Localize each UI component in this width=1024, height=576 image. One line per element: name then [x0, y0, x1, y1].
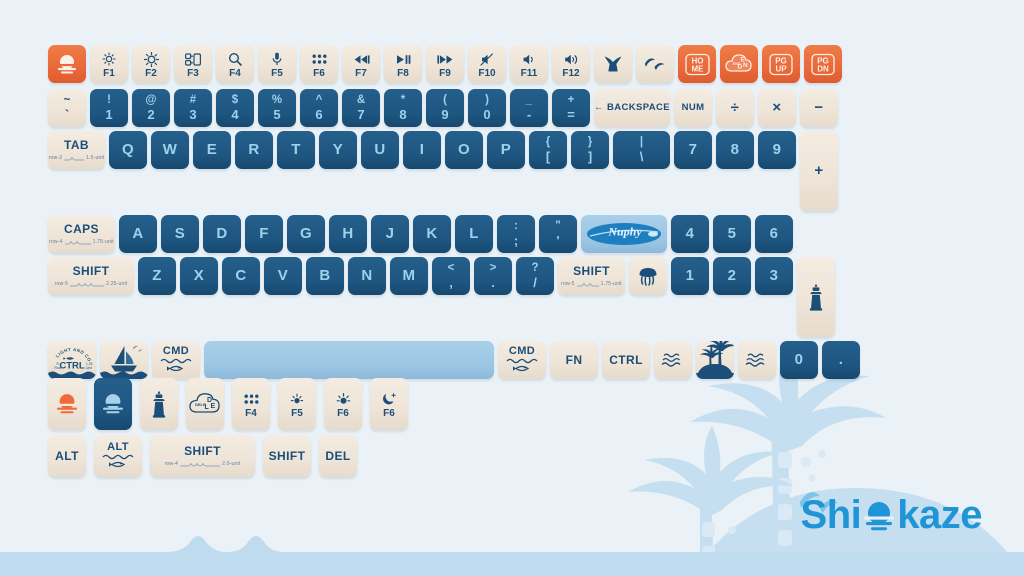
key-f9-label: F9: [439, 68, 451, 79]
base-legend: -: [527, 107, 531, 122]
key-f1-label: F1: [103, 68, 115, 79]
key-numpad-divide[interactable]: ÷: [716, 89, 754, 127]
spec-row: row-4: [49, 239, 63, 245]
key-numpad-8[interactable]: 8: [716, 131, 754, 169]
sunset-icon: [54, 392, 80, 416]
profile-curve-icon: [65, 240, 91, 245]
key-f6-label: F6: [313, 68, 325, 79]
key-w[interactable]: W: [151, 131, 189, 169]
key-period[interactable]: >.: [474, 257, 512, 295]
shifted-legend: ": [555, 220, 560, 232]
lighthouse-icon: [806, 282, 826, 312]
shifted-legend: <: [448, 262, 455, 274]
extras-row-1: DELE D L E F4 F5 F6: [48, 378, 416, 430]
key-bracket-left[interactable]: {[: [529, 131, 567, 169]
key-cmd-left[interactable]: CMD: [152, 341, 200, 379]
key-end[interactable]: END E D N: [720, 45, 758, 83]
key-u-label: U: [374, 142, 385, 158]
key-grave-base: `: [65, 107, 69, 122]
key-esc[interactable]: [48, 45, 86, 83]
key-cmd-left-label: CMD: [163, 346, 189, 358]
brand-logo: Shi kaze: [801, 493, 982, 538]
previous-track-icon: [353, 53, 370, 66]
key-numpad-5-label: 5: [728, 226, 737, 242]
shifted-legend: +: [568, 94, 575, 106]
key-f-label: F: [259, 226, 269, 242]
key-k-label: K: [426, 226, 437, 242]
key-numpad-6[interactable]: 6: [755, 215, 793, 253]
brightness-up-icon: [144, 53, 159, 66]
key-f6[interactable]: F6: [300, 45, 338, 83]
extra-key-f4-label: F4: [245, 408, 257, 419]
brand-text-after: kaze: [897, 493, 982, 538]
extra-key-shift-label: SHIFT: [269, 450, 306, 463]
shifted-legend: !: [107, 94, 111, 106]
svg-text:ME: ME: [691, 64, 704, 73]
task-view-icon: [185, 53, 201, 66]
shifted-legend: :: [514, 220, 518, 232]
key-f12[interactable]: F12: [552, 45, 590, 83]
key-f9[interactable]: F9: [426, 45, 464, 83]
base-legend: \: [640, 149, 644, 164]
svg-text:CTRL: CTRL: [59, 361, 85, 372]
seagulls-icon: [643, 55, 667, 73]
microphone-icon: [272, 53, 282, 66]
key-i[interactable]: I: [403, 131, 441, 169]
key-v-label: V: [278, 268, 288, 284]
svg-text:N: N: [743, 62, 748, 69]
brand-text-before: Shi: [801, 493, 862, 538]
moon-icon: [382, 393, 396, 406]
key-novelty-sailboat[interactable]: [100, 341, 148, 379]
whale-tail-icon: [602, 53, 624, 75]
key-g-label: G: [300, 226, 312, 242]
key-backspace[interactable]: ← BACKSPACE: [594, 89, 670, 127]
key-fn-label: FN: [566, 354, 583, 367]
extra-key-esc-cream[interactable]: [48, 378, 86, 430]
key-f1[interactable]: F1: [90, 45, 128, 83]
key-q[interactable]: Q: [109, 131, 147, 169]
key-cmd-right[interactable]: CMD: [498, 341, 546, 379]
key-numpad-subtract[interactable]: −: [800, 89, 838, 127]
key-novelty-seagull[interactable]: [636, 45, 674, 83]
key-numpad-2-label: 2: [728, 268, 737, 284]
key-shift-right-label: SHIFT: [573, 265, 610, 278]
spec-unit: 2.25-unit: [106, 281, 127, 287]
extra-key-lighthouse[interactable]: [140, 378, 178, 430]
key-l-label: L: [469, 226, 479, 242]
sunset-icon: [100, 392, 126, 416]
key-f[interactable]: F: [245, 215, 283, 253]
app-grid-icon: [244, 393, 259, 406]
key-f7[interactable]: F7: [342, 45, 380, 83]
key-f10[interactable]: F10: [468, 45, 506, 83]
shifted-legend: (: [443, 94, 447, 106]
base-legend: /: [533, 275, 537, 290]
key-novelty-wave-left[interactable]: [654, 341, 692, 379]
key-numpad-enter[interactable]: [797, 257, 835, 337]
key-digit-3[interactable]: #3: [174, 89, 212, 127]
key-numpad-1[interactable]: 1: [671, 257, 709, 295]
key-numpad-5[interactable]: 5: [713, 215, 751, 253]
base-legend: .: [491, 275, 495, 290]
key-digit-1[interactable]: !1: [90, 89, 128, 127]
key-numpad-1-label: 1: [686, 268, 695, 284]
key-s-label: S: [175, 226, 185, 242]
extra-key-alt-fish-label: ALT: [107, 442, 129, 454]
key-c-label: C: [235, 268, 246, 284]
key-shift-right[interactable]: SHIFT row-5 1.75-unit: [558, 257, 625, 295]
key-novelty-palm-island[interactable]: [696, 341, 734, 379]
extra-key-shift[interactable]: SHIFT: [263, 435, 311, 477]
key-slash[interactable]: ?/: [516, 257, 554, 295]
shifted-legend: {: [546, 136, 550, 148]
key-numpad-decimal-label: .: [839, 352, 844, 368]
key-fn[interactable]: FN: [550, 341, 598, 379]
key-numpad-4-label: 4: [686, 226, 695, 242]
key-digit-9[interactable]: (9: [426, 89, 464, 127]
key-numpad-multiply[interactable]: ×: [758, 89, 796, 127]
key-a-label: A: [132, 226, 143, 242]
shifted-legend: |: [640, 136, 643, 148]
volume-down-icon: [522, 53, 536, 66]
spec-unit: 1.5-unit: [86, 155, 104, 161]
key-b-label: B: [319, 268, 330, 284]
key-f5-label: F5: [271, 68, 283, 79]
key-s[interactable]: S: [161, 215, 199, 253]
key-r[interactable]: R: [235, 131, 273, 169]
shifted-legend: @: [145, 94, 156, 106]
key-numpad-8-label: 8: [731, 142, 740, 158]
key-numpad-decimal[interactable]: .: [822, 341, 860, 379]
key-x-label: X: [194, 268, 204, 284]
volume-up-icon: [564, 53, 579, 66]
app-grid-icon: [312, 53, 327, 66]
z-row: SHIFT row-5 2.25-unit Z X C V B N M <, >…: [48, 257, 988, 337]
key-shift-left-label: SHIFT: [73, 265, 110, 278]
extra-key-alt-fish[interactable]: ALT: [94, 435, 142, 477]
key-digit-0[interactable]: )0: [468, 89, 506, 127]
key-h-label: H: [342, 226, 353, 242]
key-page-up[interactable]: PG UP: [762, 45, 800, 83]
key-page-down[interactable]: PG DN: [804, 45, 842, 83]
key-f4[interactable]: F4: [216, 45, 254, 83]
key-quote[interactable]: "': [539, 215, 577, 253]
key-f3-label: F3: [187, 68, 199, 79]
base-legend: ;: [514, 233, 518, 248]
key-numpad-3[interactable]: 3: [755, 257, 793, 295]
cloud-icon: DELE D L E: [188, 391, 222, 417]
q-row: TAB row-3 1.5-unit Q W E R T Y U I O P {…: [48, 131, 988, 211]
function-row: F1 F2 F3 F4 F5: [48, 45, 988, 83]
extras-row-2: ALT ALT SHIFT row-4 2.0-unit SHIFT DEL: [48, 435, 416, 477]
key-i-label: I: [420, 142, 425, 158]
sailboat-icon: [100, 341, 148, 379]
base-legend: 2: [147, 107, 154, 122]
extra-key-f6-moon-label: F6: [383, 408, 395, 419]
key-v[interactable]: V: [264, 257, 302, 295]
key-f2[interactable]: F2: [132, 45, 170, 83]
key-tab-label: TAB: [64, 139, 89, 152]
key-w-label: W: [163, 142, 178, 158]
key-c[interactable]: C: [222, 257, 260, 295]
key-capslock[interactable]: CAPS row-4 1.75-unit: [48, 215, 115, 253]
key-e[interactable]: E: [193, 131, 231, 169]
key-numpad-add[interactable]: +: [800, 131, 838, 211]
key-x[interactable]: X: [180, 257, 218, 295]
extra-key-delete[interactable]: DELE D L E: [186, 378, 224, 430]
base-legend: =: [567, 107, 575, 122]
key-novelty-jellyfish[interactable]: [629, 257, 667, 295]
shifted-legend: &: [357, 94, 365, 106]
svg-text:Unit: Unit: [86, 366, 92, 370]
key-minus[interactable]: _-: [510, 89, 548, 127]
key-numpad-9-label: 9: [773, 142, 782, 158]
extra-key-f5-label: F5: [291, 408, 303, 419]
key-f12-label: F12: [562, 68, 579, 79]
key-f10-label: F10: [478, 68, 495, 79]
key-shift-left[interactable]: SHIFT row-5 2.25-unit: [48, 257, 134, 295]
key-home[interactable]: HO ME: [678, 45, 716, 83]
profile-curve-icon: [180, 462, 220, 467]
spec-unit: 1.75-unit: [93, 239, 114, 245]
extra-key-f4[interactable]: F4: [232, 378, 270, 430]
svg-text:UP: UP: [775, 64, 787, 73]
base-legend: 5: [273, 107, 280, 122]
key-z[interactable]: Z: [138, 257, 176, 295]
key-y[interactable]: Y: [319, 131, 357, 169]
key-digit-7[interactable]: &7: [342, 89, 380, 127]
waves-icon: [661, 352, 685, 368]
extra-key-f6-moon[interactable]: F6: [370, 378, 408, 430]
a-row: CAPS row-4 1.75-unit A S D F G H J K L :…: [48, 215, 988, 253]
spec-row: row-5: [561, 281, 575, 287]
key-l[interactable]: L: [455, 215, 493, 253]
key-z-label: Z: [152, 268, 162, 284]
key-f3[interactable]: F3: [174, 45, 212, 83]
spec-row: row-3: [49, 155, 63, 161]
cloud-icon: END E D N: [724, 52, 754, 76]
key-a[interactable]: A: [119, 215, 157, 253]
key-p-label: P: [501, 142, 511, 158]
key-ctrl-right[interactable]: CTRL: [602, 341, 650, 379]
page-up-badge-icon: PG UP: [768, 52, 794, 77]
key-f5[interactable]: F5: [258, 45, 296, 83]
shifted-legend: ^: [316, 94, 323, 106]
waves-fish-icon: [159, 357, 193, 374]
key-r-label: R: [248, 142, 259, 158]
next-track-icon: [437, 53, 454, 66]
svg-text:Row: Row: [55, 366, 62, 370]
key-f11[interactable]: F11: [510, 45, 548, 83]
key-t[interactable]: T: [277, 131, 315, 169]
extra-key-f5[interactable]: F5: [278, 378, 316, 430]
key-f11-label: F11: [521, 68, 538, 79]
key-f4-label: F4: [229, 68, 241, 79]
key-numpad-7-label: 7: [689, 142, 698, 158]
key-grave-shifted: ~: [64, 94, 71, 106]
key-capslock-label: CAPS: [64, 223, 99, 236]
key-h[interactable]: H: [329, 215, 367, 253]
key-j-label: J: [386, 226, 395, 242]
base-legend: 4: [231, 107, 238, 122]
shifted-legend: }: [588, 136, 592, 148]
base-legend: [: [546, 149, 550, 164]
spec-unit: 1.75-unit: [601, 281, 622, 287]
palm-island-icon: [696, 341, 734, 379]
waves-fish-icon: [505, 357, 539, 374]
key-novelty-wave-right[interactable]: [738, 341, 776, 379]
shifted-legend: #: [190, 94, 196, 106]
shifted-legend: >: [490, 262, 497, 274]
key-cmd-right-label: CMD: [509, 346, 535, 358]
base-legend: ': [556, 233, 559, 248]
extra-keycaps-section: DELE D L E F4 F5 F6: [48, 378, 416, 482]
waves-icon: [745, 352, 769, 368]
brightness-down-icon: [102, 53, 116, 66]
key-numpad-9[interactable]: 9: [758, 131, 796, 169]
key-e-label: E: [207, 142, 217, 158]
key-ctrl-left[interactable]: LIGHT AND COOL CTRL R Row 1.25 Unit: [48, 341, 96, 379]
key-ctrl-right-label: CTRL: [609, 354, 643, 367]
extra-key-f6-label: F6: [337, 408, 349, 419]
base-legend: 0: [483, 107, 490, 122]
number-row: ~ ` !1 @2 #3 $4 %5 ^6 &7 *8 (9 )0 _- += …: [48, 89, 988, 127]
key-f7-label: F7: [355, 68, 367, 79]
spec-unit: 2.0-unit: [222, 461, 240, 467]
key-digit-2[interactable]: @2: [132, 89, 170, 127]
svg-text:D: D: [738, 64, 743, 71]
key-backslash[interactable]: |\: [613, 131, 670, 169]
key-o[interactable]: O: [445, 131, 483, 169]
key-divide-label: ÷: [731, 100, 740, 116]
key-g[interactable]: G: [287, 215, 325, 253]
home-badge-icon: HO ME: [684, 52, 711, 77]
surfboard-icon: Nuphy: [585, 221, 663, 247]
shifted-legend: ): [485, 94, 489, 106]
sunset-icon: [55, 53, 79, 75]
key-d-label: D: [216, 226, 227, 242]
key-digit-5[interactable]: %5: [258, 89, 296, 127]
key-k[interactable]: K: [413, 215, 451, 253]
ctrl-artwork: LIGHT AND COOL CTRL R Row 1.25 Unit: [48, 341, 96, 379]
key-u[interactable]: U: [361, 131, 399, 169]
key-numpad-0[interactable]: 0: [780, 341, 818, 379]
key-p[interactable]: P: [487, 131, 525, 169]
keycap-layout: F1 F2 F3 F4 F5: [48, 45, 988, 383]
jellyfish-icon: [637, 264, 659, 288]
shifted-legend: ?: [531, 262, 538, 274]
base-legend: 6: [315, 107, 322, 122]
brightness-down-icon: [290, 393, 304, 406]
key-subtract-label: −: [814, 100, 823, 116]
key-numpad-4[interactable]: 4: [671, 215, 709, 253]
base-legend: 9: [441, 107, 448, 122]
key-numpad-7[interactable]: 7: [674, 131, 712, 169]
base-legend: 3: [189, 107, 196, 122]
key-digit-6[interactable]: ^6: [300, 89, 338, 127]
svg-text:E: E: [211, 403, 216, 410]
key-numpad-6-label: 6: [770, 226, 779, 242]
waves-fish-icon: [101, 453, 135, 470]
bottom-row: LIGHT AND COOL CTRL R Row 1.25 Unit: [48, 341, 988, 379]
extra-key-shift-2u-spec: row-4 2.0-unit: [165, 461, 241, 467]
extra-key-del-label: DEL: [325, 450, 350, 463]
base-legend: 8: [399, 107, 406, 122]
key-tab[interactable]: TAB row-3 1.5-unit: [48, 131, 105, 169]
key-equal[interactable]: +=: [552, 89, 590, 127]
svg-text:L: L: [205, 404, 210, 411]
key-o-label: O: [458, 142, 470, 158]
key-digit-8[interactable]: *8: [384, 89, 422, 127]
spec-row: row-4: [165, 461, 179, 467]
key-shift-right-spec: row-5 1.75-unit: [561, 281, 622, 287]
profile-curve-icon: [64, 156, 84, 161]
base-legend: 7: [357, 107, 364, 122]
extra-key-esc-blue[interactable]: [94, 378, 132, 430]
bottom-wave-decoration: [0, 534, 1024, 576]
key-backspace-label: ← BACKSPACE: [594, 103, 670, 113]
key-m[interactable]: M: [390, 257, 428, 295]
key-n[interactable]: N: [348, 257, 386, 295]
key-grave[interactable]: ~ `: [48, 89, 86, 127]
key-enter[interactable]: Nuphy: [581, 215, 667, 253]
key-n-label: N: [361, 268, 372, 284]
shifted-legend: $: [232, 94, 238, 106]
key-capslock-spec: row-4 1.75-unit: [49, 239, 114, 245]
extra-key-del[interactable]: DEL: [319, 435, 357, 477]
key-semicolon[interactable]: :;: [497, 215, 535, 253]
key-numlock-label: NUM: [682, 103, 705, 113]
key-f2-label: F2: [145, 68, 157, 79]
lighthouse-icon: [149, 389, 169, 419]
shifted-legend: *: [401, 94, 405, 106]
key-b[interactable]: B: [306, 257, 344, 295]
extra-key-alt[interactable]: ALT: [48, 435, 86, 477]
key-numlock[interactable]: NUM: [674, 89, 712, 127]
key-numpad-3-label: 3: [770, 268, 779, 284]
key-bracket-right[interactable]: }]: [571, 131, 609, 169]
key-digit-4[interactable]: $4: [216, 89, 254, 127]
key-spacebar[interactable]: [204, 341, 494, 379]
profile-curve-icon: [70, 282, 104, 287]
extra-key-shift-2u[interactable]: SHIFT row-4 2.0-unit: [150, 435, 255, 477]
extra-key-shift-2u-label: SHIFT: [184, 445, 221, 458]
key-f8-label: F8: [397, 68, 409, 79]
spec-row: row-5: [55, 281, 69, 287]
key-shift-left-spec: row-5 2.25-unit: [55, 281, 128, 287]
profile-curve-icon: [577, 282, 599, 287]
key-d[interactable]: D: [203, 215, 241, 253]
key-m-label: M: [403, 268, 416, 284]
key-numpad-2[interactable]: 2: [713, 257, 751, 295]
key-comma[interactable]: <,: [432, 257, 470, 295]
key-numpad-add-label: +: [814, 163, 823, 179]
base-legend: ,: [449, 275, 453, 290]
key-j[interactable]: J: [371, 215, 409, 253]
key-novelty-whale[interactable]: [594, 45, 632, 83]
key-t-label: T: [291, 142, 301, 158]
key-q-label: Q: [122, 142, 134, 158]
sunset-icon: [862, 498, 896, 534]
key-f8[interactable]: F8: [384, 45, 422, 83]
page-down-badge-icon: PG DN: [810, 52, 836, 77]
extra-key-f6[interactable]: F6: [324, 378, 362, 430]
key-y-label: Y: [333, 142, 343, 158]
brightness-up-icon: [336, 393, 351, 406]
key-tab-spec: row-3 1.5-unit: [49, 155, 105, 161]
shifted-legend: %: [272, 94, 282, 106]
